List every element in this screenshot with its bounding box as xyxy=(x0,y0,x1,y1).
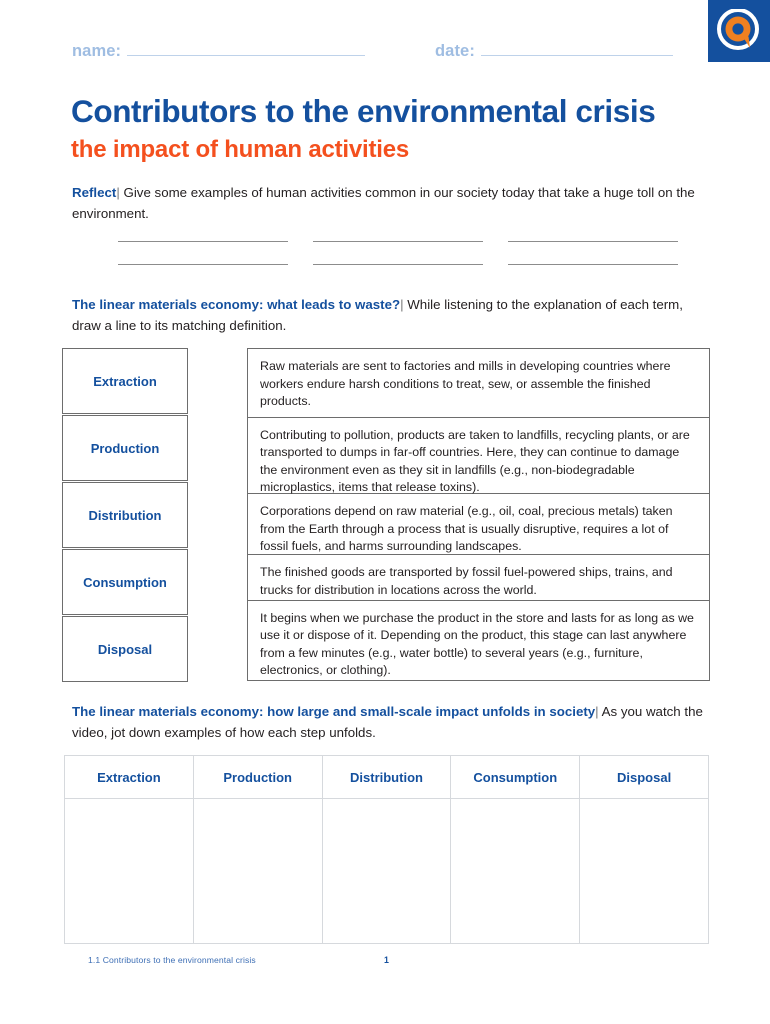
term-label: Production xyxy=(91,441,160,456)
table-header-row: Extraction Production Distribution Consu… xyxy=(65,756,709,799)
reflect-prompt: Reflect| Give some examples of human act… xyxy=(72,182,708,224)
reflect-lead: Reflect xyxy=(72,185,116,200)
date-label: date: xyxy=(435,42,475,61)
notes-table-body xyxy=(65,799,709,944)
date-field-group: date: xyxy=(435,42,673,61)
answer-line[interactable] xyxy=(313,263,483,265)
answer-line-row xyxy=(118,240,688,242)
column-header-disposal: Disposal xyxy=(580,756,709,799)
notes-prompt: The linear materials economy: how large … xyxy=(72,701,712,743)
name-field-group: name: xyxy=(72,42,365,61)
answer-line[interactable] xyxy=(313,240,483,242)
column-header-distribution: Distribution xyxy=(322,756,451,799)
answer-line[interactable] xyxy=(508,263,678,265)
definition-box[interactable]: It begins when we purchase the product i… xyxy=(247,600,710,681)
definition-box[interactable]: Corporations depend on raw material (e.g… xyxy=(247,493,710,555)
term-label: Disposal xyxy=(98,642,152,657)
reflect-answer-lines xyxy=(118,240,688,286)
name-input-line[interactable] xyxy=(127,43,365,56)
matching-lead: The linear materials economy: what leads… xyxy=(72,297,400,312)
term-box-distribution[interactable]: Distribution xyxy=(62,482,188,548)
term-box-consumption[interactable]: Consumption xyxy=(62,549,188,615)
answer-line[interactable] xyxy=(118,240,288,242)
page-title: Contributors to the environmental crisis xyxy=(71,93,655,130)
definition-box[interactable]: Contributing to pollution, products are … xyxy=(247,417,710,495)
matching-prompt: The linear materials economy: what leads… xyxy=(72,294,690,336)
footer-page-number: 1 xyxy=(384,955,389,965)
term-label: Extraction xyxy=(93,374,157,389)
brand-logo xyxy=(708,0,770,62)
definition-box[interactable]: The finished goods are transported by fo… xyxy=(247,554,710,601)
name-label: name: xyxy=(72,42,121,61)
notes-cell-distribution[interactable] xyxy=(322,799,451,944)
notes-cell-disposal[interactable] xyxy=(580,799,709,944)
notes-table-head: Extraction Production Distribution Consu… xyxy=(65,756,709,799)
notes-table: Extraction Production Distribution Consu… xyxy=(64,755,709,944)
q-speech-bubble-logo-icon xyxy=(717,9,761,53)
column-header-extraction: Extraction xyxy=(65,756,194,799)
answer-line[interactable] xyxy=(118,263,288,265)
footer-title: 1.1 Contributors to the environmental cr… xyxy=(88,955,256,965)
date-input-line[interactable] xyxy=(481,43,673,56)
notes-cell-extraction[interactable] xyxy=(65,799,194,944)
term-box-extraction[interactable]: Extraction xyxy=(62,348,188,414)
matching-definitions-column: Raw materials are sent to factories and … xyxy=(247,348,710,680)
notes-cell-production[interactable] xyxy=(193,799,322,944)
page-subtitle: the impact of human activities xyxy=(71,136,409,164)
notes-cell-consumption[interactable] xyxy=(451,799,580,944)
name-date-row: name: date: xyxy=(72,42,692,68)
term-box-production[interactable]: Production xyxy=(62,415,188,481)
column-header-consumption: Consumption xyxy=(451,756,580,799)
definition-box[interactable]: Raw materials are sent to factories and … xyxy=(247,348,710,418)
notes-lead: The linear materials economy: how large … xyxy=(72,704,595,719)
answer-line[interactable] xyxy=(508,240,678,242)
page-footer: 1.1 Contributors to the environmental cr… xyxy=(88,955,688,971)
matching-terms-column: Extraction Production Distribution Consu… xyxy=(62,348,188,683)
matching-exercise: Extraction Production Distribution Consu… xyxy=(62,348,710,686)
answer-line-row xyxy=(118,263,688,265)
reflect-body: Give some examples of human activities c… xyxy=(72,185,695,221)
table-row xyxy=(65,799,709,944)
term-label: Consumption xyxy=(83,575,167,590)
term-label: Distribution xyxy=(89,508,162,523)
worksheet-page: name: date: Contributors to the environm… xyxy=(0,0,770,1024)
column-header-production: Production xyxy=(193,756,322,799)
term-box-disposal[interactable]: Disposal xyxy=(62,616,188,682)
